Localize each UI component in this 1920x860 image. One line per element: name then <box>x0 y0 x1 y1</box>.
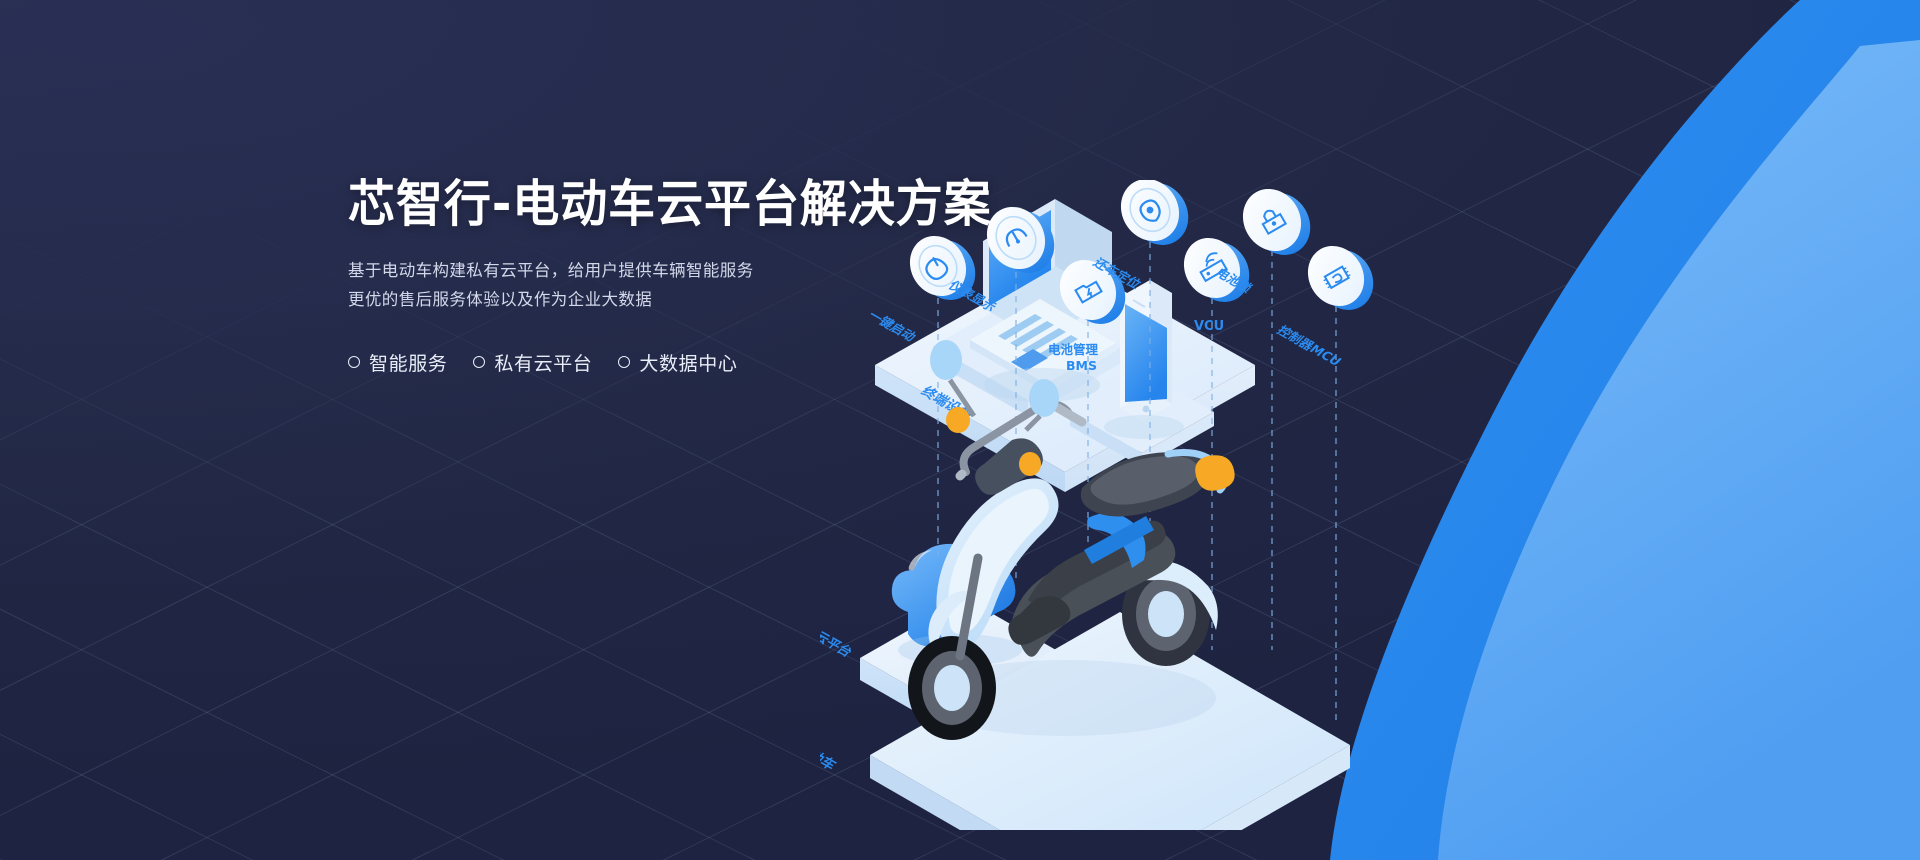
front-wheel <box>908 636 996 740</box>
svg-text:电池管理: 电池管理 <box>1048 342 1099 357</box>
ring-bullet-icon <box>473 356 485 368</box>
svg-text:智能电动车: 智能电动车 <box>820 727 840 773</box>
svg-text:控制器MCU: 控制器MCU <box>1274 323 1345 368</box>
svg-text:电动车云平台: 电动车云平台 <box>820 609 856 660</box>
platform-label-vehicle: 智能电动车 <box>820 727 840 773</box>
feature-tag-smart-service[interactable]: 智能服务 <box>348 349 447 376</box>
hero-banner: 芯智行-电动车云平台解决方案 基于电动车构建私有云平台，给用户提供车辆智能服务 … <box>0 0 1920 860</box>
svg-text:一键启动: 一键启动 <box>865 308 919 344</box>
feature-tag-label: 私有云平台 <box>494 349 592 376</box>
feature-tag-private-cloud[interactable]: 私有云平台 <box>473 349 592 376</box>
isometric-illustration: 终端设备 电动车云平台 <box>820 180 1660 830</box>
feature-icon-controller-mcu[interactable]: 控制器MCU <box>1274 236 1384 369</box>
platform-label-cloud: 电动车云平台 <box>820 609 856 660</box>
feature-tag-label: 大数据中心 <box>639 349 737 376</box>
ring-bullet-icon <box>618 356 630 368</box>
svg-text:BMS: BMS <box>1066 358 1097 373</box>
ring-bullet-icon <box>348 356 360 368</box>
feature-tag-big-data[interactable]: 大数据中心 <box>618 349 737 376</box>
feature-icon-battery-lock[interactable]: 电池锁 <box>1212 180 1321 295</box>
svg-text:VCU: VCU <box>1194 319 1224 334</box>
feature-tag-label: 智能服务 <box>369 349 447 376</box>
